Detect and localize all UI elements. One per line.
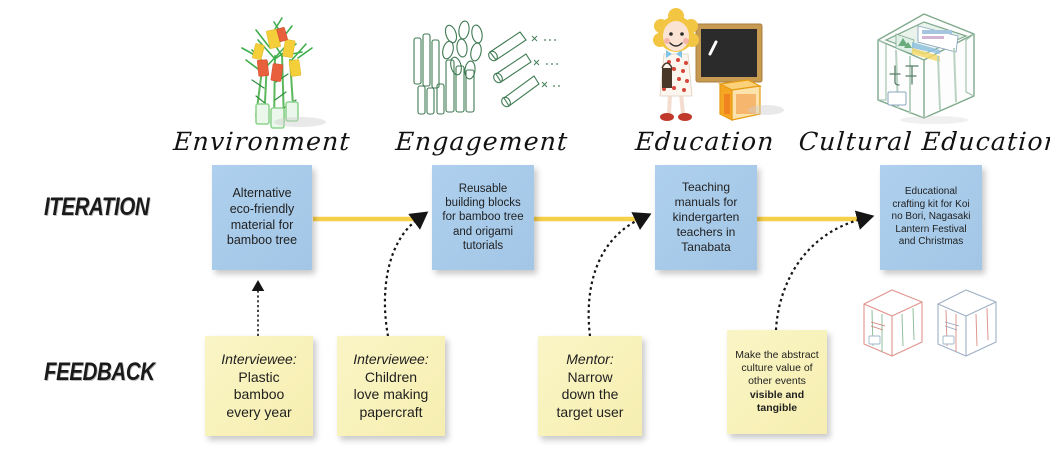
- note-line: for bamboo tree: [442, 210, 523, 224]
- note-line: Make the abstract: [735, 349, 818, 362]
- note-line: Plastic: [238, 369, 279, 387]
- tanabata-crafting-kit-box: [862, 4, 992, 124]
- note-line: Educational: [905, 186, 957, 199]
- note-line: teachers in: [677, 225, 736, 240]
- note-line: Tanabata: [681, 240, 730, 255]
- note-line: manuals for: [675, 195, 738, 210]
- note-line: Children: [365, 369, 417, 387]
- dotted-curved-arrow-icon-4: [776, 219, 862, 330]
- note-line-emphasis: tangible: [757, 402, 797, 415]
- note-line: Teaching: [682, 180, 730, 195]
- iteration-note-environment[interactable]: Alternative eco-friendly material for ba…: [212, 165, 312, 270]
- feedback-note-engagement[interactable]: Interviewee: Children love making paperc…: [337, 336, 445, 436]
- dotted-curved-arrow-icon-2: [385, 219, 418, 336]
- note-line: bamboo tree: [227, 233, 297, 249]
- note-line-emphasis: visible and: [750, 389, 804, 402]
- note-line: crafting kit for Koi: [892, 199, 969, 212]
- note-line: Lantern Festival: [895, 224, 966, 237]
- note-line: eco-friendly: [230, 202, 295, 218]
- feedback-note-education[interactable]: Mentor: Narrow down the target user: [538, 336, 642, 436]
- column-heading-education: Education: [634, 127, 775, 156]
- teacher-blackboard-illustration: [648, 2, 798, 130]
- note-line: Alternative: [232, 186, 291, 202]
- note-line: down the: [562, 386, 619, 404]
- note-line: building blocks: [445, 196, 520, 210]
- note-line: Reusable: [459, 182, 508, 196]
- note-source-label: Mentor:: [566, 351, 613, 369]
- feedback-note-cultural-education[interactable]: Make the abstract culture value of other…: [727, 330, 827, 434]
- note-line: every year: [226, 404, 291, 422]
- row-label-feedback: FEEDBACK: [44, 358, 155, 387]
- note-line: culture value of: [741, 362, 812, 375]
- note-line: no Bori, Nagasaki: [892, 211, 971, 224]
- note-line: other events: [748, 375, 806, 388]
- bamboo-building-blocks-sketch: [408, 14, 568, 119]
- roadmap-canvas: ITERATION FEEDBACK: [0, 0, 1050, 451]
- note-line: material for: [231, 218, 294, 234]
- row-label-iteration: ITERATION: [44, 193, 149, 222]
- note-line: target user: [557, 404, 624, 422]
- column-heading-cultural-education: Cultural Education: [798, 127, 1050, 156]
- note-line: love making: [354, 386, 429, 404]
- note-line: Narrow: [567, 369, 612, 387]
- iteration-note-engagement[interactable]: Reusable building blocks for bamboo tree…: [432, 165, 534, 270]
- feedback-note-environment[interactable]: Interviewee: Plastic bamboo every year: [205, 336, 313, 436]
- dotted-curved-arrow-icon-3: [589, 219, 640, 336]
- bamboo-tree-illustration: [212, 4, 342, 129]
- note-line: papercraft: [359, 404, 422, 422]
- note-source-label: Interviewee:: [353, 351, 428, 369]
- note-source-label: Interviewee:: [221, 351, 296, 369]
- note-line: and Christmas: [899, 236, 963, 249]
- note-line: and origami: [453, 225, 513, 239]
- iteration-note-cultural-education[interactable]: Educational crafting kit for Koi no Bori…: [880, 165, 982, 270]
- column-heading-environment: Environment: [172, 127, 351, 156]
- iteration-note-education[interactable]: Teaching manuals for kindergarten teache…: [655, 165, 757, 270]
- note-line: bamboo: [234, 386, 285, 404]
- note-line: tutorials: [463, 239, 503, 253]
- column-heading-engagement: Engagement: [395, 127, 570, 156]
- note-line: kindergarten: [673, 210, 740, 225]
- kit-box-variants-sketch: [858, 284, 1008, 366]
